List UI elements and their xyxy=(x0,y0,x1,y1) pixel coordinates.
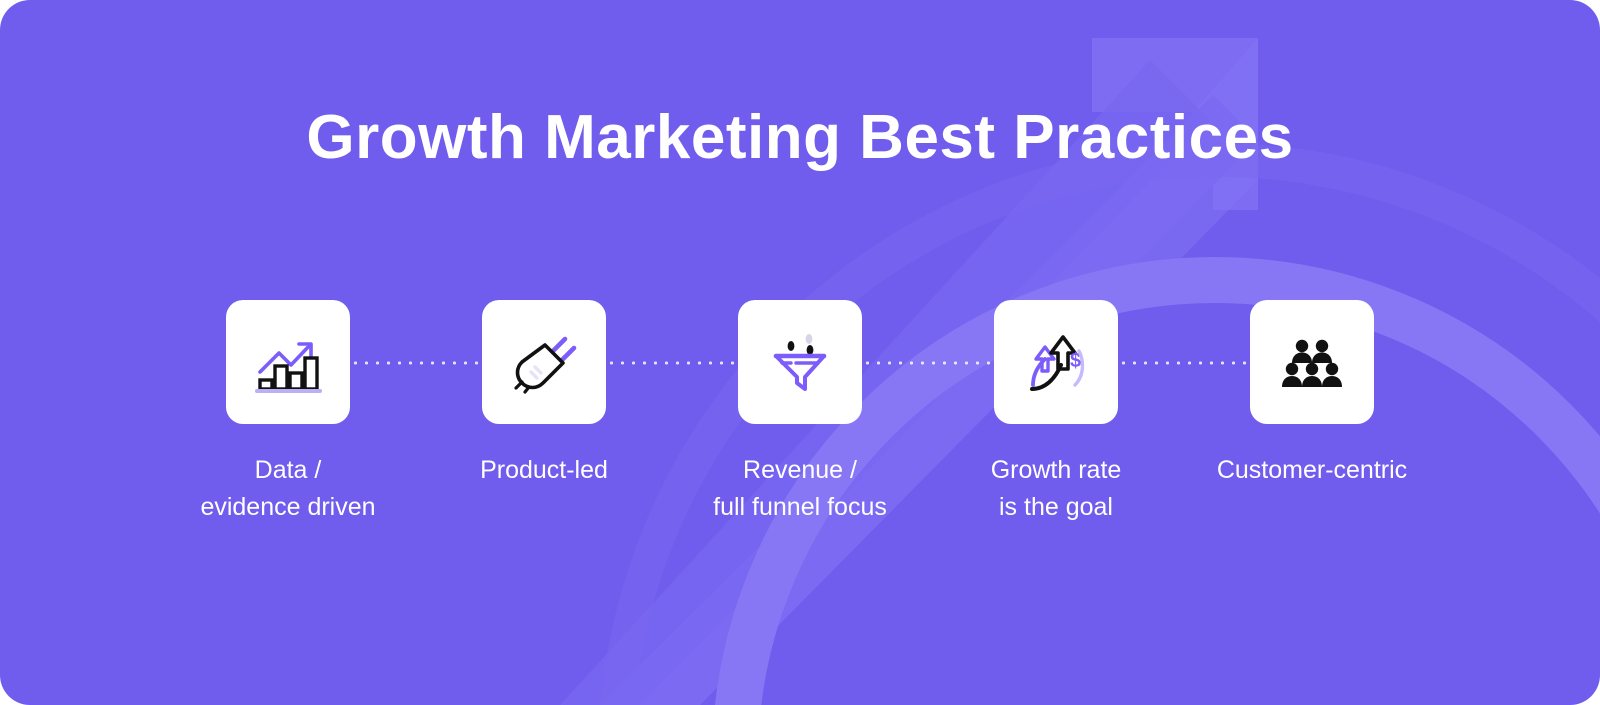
icon-card-product-led[interactable] xyxy=(482,300,606,424)
step-product-led[interactable]: Product-led xyxy=(416,300,672,489)
step-label-customer-centric: Customer-centric xyxy=(1217,452,1407,489)
people-group-icon xyxy=(1275,325,1349,399)
power-plug-icon xyxy=(507,325,581,399)
icon-card-funnel[interactable] xyxy=(738,300,862,424)
step-data-evidence-driven[interactable]: Data / evidence driven xyxy=(160,300,416,526)
step-label-revenue: Revenue / full funnel focus xyxy=(713,452,887,526)
icon-card-data[interactable] xyxy=(226,300,350,424)
page-title: Growth Marketing Best Practices xyxy=(0,104,1600,172)
step-label-growth-rate: Growth rate is the goal xyxy=(991,452,1122,526)
icon-card-growth-rate[interactable]: $ xyxy=(994,300,1118,424)
steps-row: Data / evidence driven xyxy=(0,300,1600,600)
growth-arrows-dollar-icon: $ xyxy=(1019,325,1093,399)
bar-chart-growth-icon xyxy=(251,325,325,399)
step-customer-centric[interactable]: Customer-centric xyxy=(1184,300,1440,489)
funnel-icon xyxy=(763,325,837,399)
infographic-canvas: Growth Marketing Best Practices xyxy=(0,0,1600,705)
icon-card-customer-centric[interactable] xyxy=(1250,300,1374,424)
step-revenue-funnel[interactable]: Revenue / full funnel focus xyxy=(672,300,928,526)
step-growth-rate[interactable]: $ Growth rate is the goal xyxy=(928,300,1184,526)
step-label-product-led: Product-led xyxy=(480,452,608,489)
step-label-data: Data / evidence driven xyxy=(200,452,375,526)
